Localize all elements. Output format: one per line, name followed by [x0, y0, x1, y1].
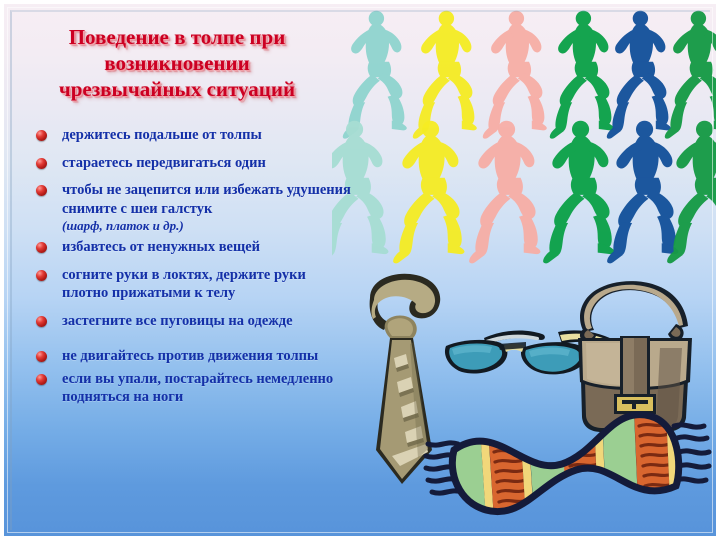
list-item-label: стараетесь передвигаться один	[62, 154, 354, 173]
running-crowd-silhouettes	[332, 0, 720, 300]
list-item-note: (шарф, платок и др.)	[62, 218, 354, 234]
list-item-label: не двигайтесь против движения толпы	[62, 347, 354, 366]
bullet-dot-icon	[36, 185, 47, 196]
title-line-3: чрезвычайных ситуаций	[18, 76, 336, 102]
list-item: не двигайтесь против движения толпы	[34, 347, 354, 366]
list-item-label: чтобы не зацепится или избежать удушения…	[62, 181, 354, 218]
bullet-dot-icon	[36, 242, 47, 253]
bullet-dot-icon	[36, 158, 47, 169]
list-item: согните руки в локтях, держите руки плот…	[34, 266, 354, 303]
scarf-icon	[426, 408, 709, 520]
bullet-dot-icon	[36, 351, 47, 362]
safety-rules-list: держитесь подальше от толпы стараетесь п…	[34, 126, 354, 416]
list-item-label: держитесь подальше от толпы	[62, 126, 354, 145]
necktie-icon	[370, 274, 441, 484]
slide-title: Поведение в толпе при возникновении чрез…	[18, 24, 336, 102]
bullet-dot-icon	[36, 130, 47, 141]
shoulder-bag-icon	[578, 281, 692, 432]
bullet-dot-icon	[36, 374, 47, 385]
list-item: избавтесь от ненужных вещей	[34, 238, 354, 257]
presentation-slide: Поведение в толпе при возникновении чрез…	[0, 0, 720, 540]
list-item: если вы упали, постарайтесь немедленно п…	[34, 370, 354, 407]
list-item: стараетесь передвигаться один	[34, 154, 354, 173]
bullet-dot-icon	[36, 316, 47, 327]
list-item-label: застегните все пуговицы на одежде	[62, 312, 354, 331]
list-item: держитесь подальше от толпы	[34, 126, 354, 145]
list-item-label: согните руки в локтях, держите руки плот…	[62, 266, 354, 303]
title-line-2: возникновении	[18, 50, 336, 76]
list-item: чтобы не зацепится или избежать удушения…	[34, 181, 354, 234]
personal-items-illustration	[340, 270, 720, 535]
list-item: застегните все пуговицы на одежде	[34, 312, 354, 331]
title-line-1: Поведение в толпе при	[18, 24, 336, 50]
list-item-label: если вы упали, постарайтесь немедленно п…	[62, 370, 354, 407]
list-item-label: избавтесь от ненужных вещей	[62, 238, 354, 257]
bullet-dot-icon	[36, 270, 47, 281]
